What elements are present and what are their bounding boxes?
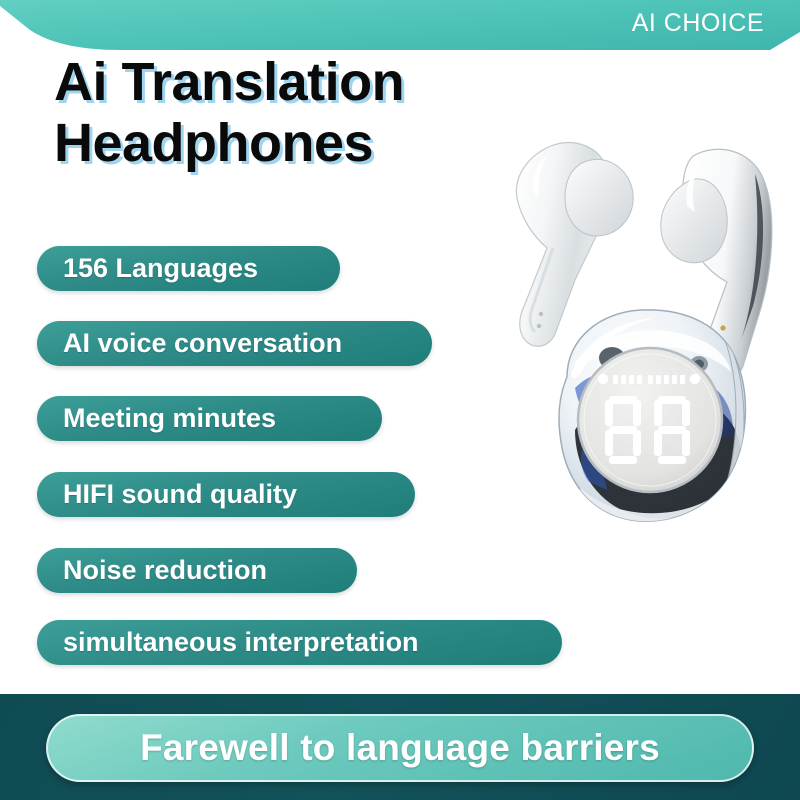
charging-case xyxy=(559,310,745,525)
top-banner: AI CHOICE xyxy=(0,0,800,52)
led-display xyxy=(578,348,722,492)
page-title: Ai Translation Headphones xyxy=(54,52,524,174)
feature-pill-0-label: 156 Languages xyxy=(37,253,284,284)
product-image xyxy=(455,130,800,620)
feature-pill-1-label: AI voice conversation xyxy=(37,328,368,359)
battery-icon xyxy=(598,374,608,384)
ai-choice-badge: AI CHOICE xyxy=(632,9,764,38)
feature-pill-4[interactable]: Noise reduction xyxy=(37,548,357,593)
feature-pill-3-label: HIFI sound quality xyxy=(37,479,323,510)
cta-button[interactable]: Farewell to language barriers xyxy=(46,714,754,782)
feature-pill-4-label: Noise reduction xyxy=(37,555,293,586)
feature-pill-3[interactable]: HIFI sound quality xyxy=(37,472,415,517)
feature-pill-5-label: simultaneous interpretation xyxy=(37,627,445,658)
cta-button-label: Farewell to language barriers xyxy=(140,727,660,769)
power-icon xyxy=(690,374,700,384)
product-poster: AI CHOICE Ai Translation Headphones xyxy=(0,0,800,800)
feature-pill-2[interactable]: Meeting minutes xyxy=(37,396,382,441)
feature-pill-1[interactable]: AI voice conversation xyxy=(37,321,432,366)
feature-pill-2-label: Meeting minutes xyxy=(37,403,302,434)
feature-pill-5[interactable]: simultaneous interpretation xyxy=(37,620,562,665)
page-title-line-2: Headphones xyxy=(54,113,524,174)
feature-pill-0[interactable]: 156 Languages xyxy=(37,246,340,291)
page-title-line-1: Ai Translation xyxy=(54,52,524,113)
